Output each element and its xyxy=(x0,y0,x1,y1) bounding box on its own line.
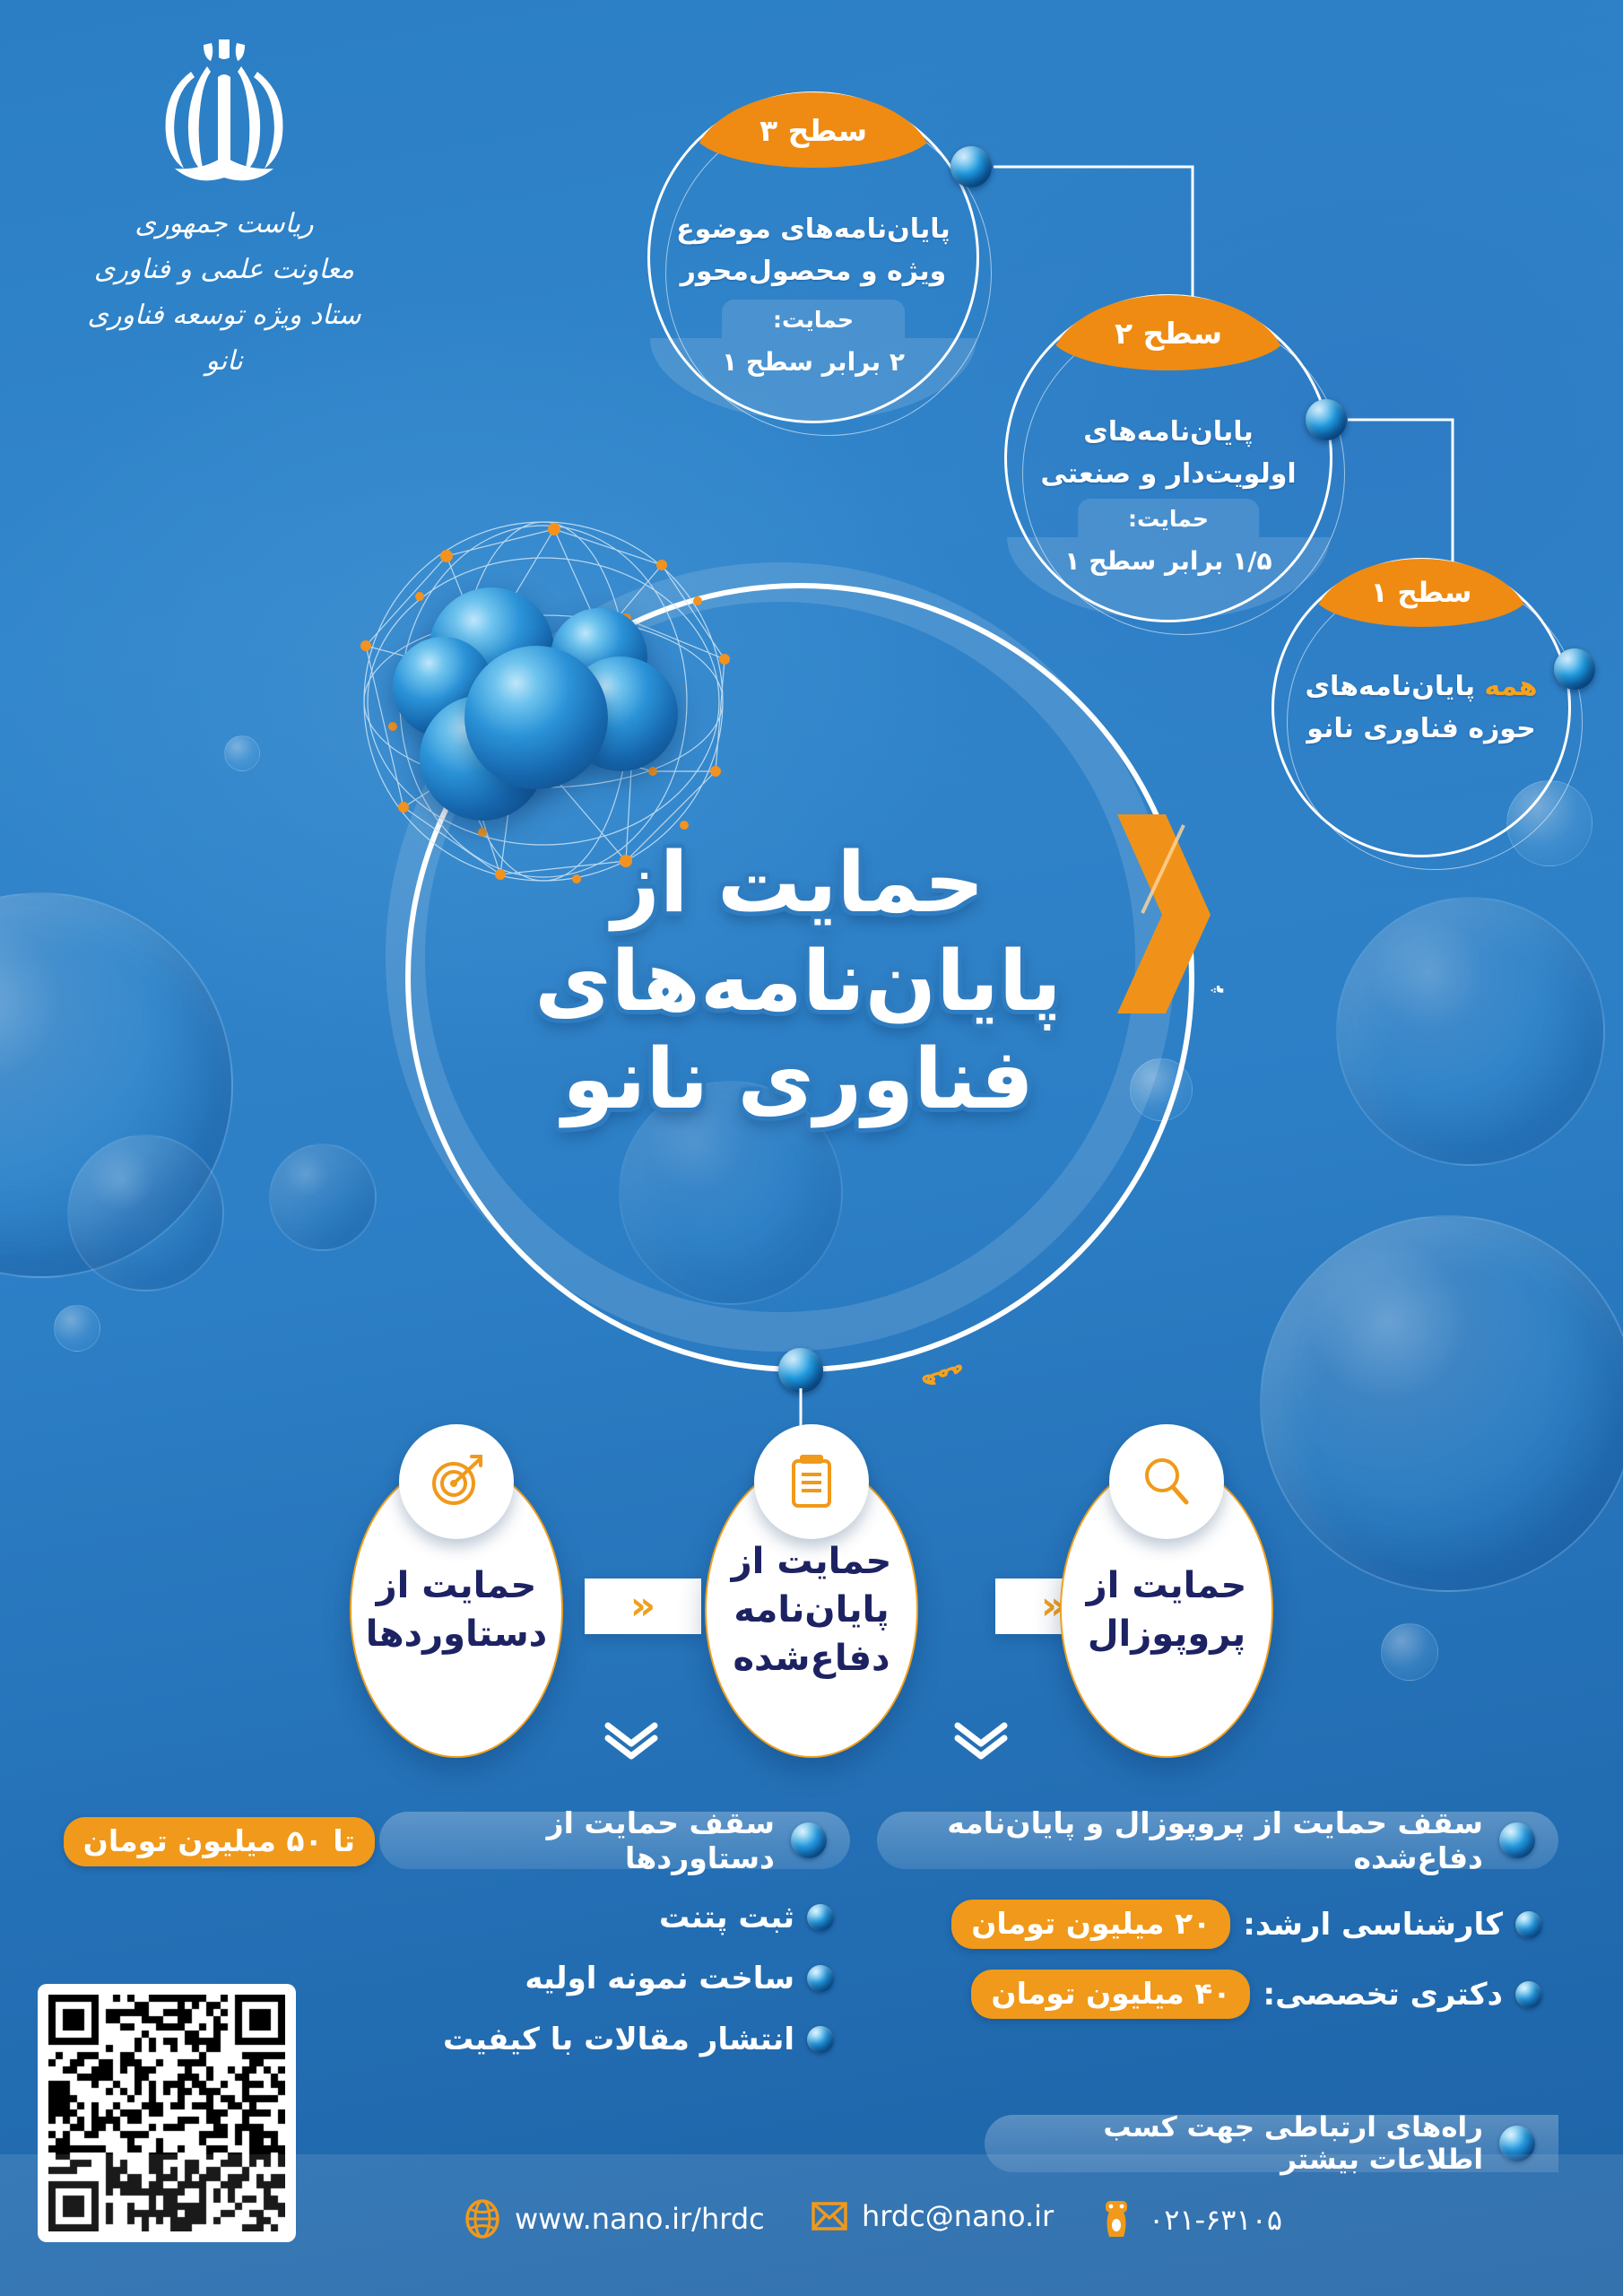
panel-left-item-text: انتشار مقالات با کیفیت xyxy=(443,2022,794,2057)
stage-proposal-label: حمایت از پروپوزال xyxy=(1072,1561,1262,1658)
marble-bullet-icon xyxy=(807,1965,834,1992)
stage-outcomes-badge xyxy=(399,1424,514,1539)
level-2-body: پایان‌نامه‌های اولویت‌دار و صنعتی xyxy=(1027,412,1311,495)
panel-right-row-value: ۲۰ میلیون تومان xyxy=(951,1900,1230,1949)
background-bubble xyxy=(269,1144,377,1251)
stage-defended-line-2: پایان‌نامه xyxy=(732,1586,892,1634)
down-arrow-icon xyxy=(952,1720,1010,1760)
stage-proposal-line-2: پروپوزال xyxy=(1087,1610,1247,1658)
stage-proposal-line-1: حمایت از xyxy=(1087,1561,1247,1610)
marble-bullet-icon xyxy=(1515,1911,1542,1938)
stage-outcomes-line-2: دستاوردها xyxy=(366,1610,547,1658)
title-line-2: پایان‌نامه‌های xyxy=(502,933,1094,1031)
level-3-body: پایان‌نامه‌های موضوع ویژه و محصول‌محور xyxy=(670,209,957,292)
panel-right-row: کارشناسی ارشد: ۲۰ میلیون تومان xyxy=(951,1900,1542,1949)
marble-bullet-icon xyxy=(791,1822,827,1858)
footer-contact-website[interactable]: www.nano.ir/hrdc xyxy=(464,2199,765,2239)
panel-left-item: ساخت نمونه اولیه xyxy=(525,1961,834,1996)
nano-cluster-illustration xyxy=(339,502,751,897)
panel-left-item: انتشار مقالات با کیفیت xyxy=(443,2022,834,2057)
panel-right-row-label: کارشناسی ارشد: xyxy=(1243,1907,1503,1943)
level-3-line-1: پایان‌نامه‌های موضوع xyxy=(670,209,957,251)
stage-defended-label: حمایت از پایان‌نامه دفاع‌شده xyxy=(717,1537,907,1683)
panel-left-header-text: سقف حمایت از دستاوردها xyxy=(403,1805,775,1875)
panel-right-row-label: دکتری تخصصی: xyxy=(1263,1977,1503,2013)
background-bubble xyxy=(1336,897,1605,1166)
panel-right-header: سقف حمایت از پروپوزال و پایان‌نامه دفاع‌… xyxy=(877,1812,1558,1869)
background-bubble xyxy=(54,1305,100,1352)
footer-phone-text: ۰۲۱-۶۳۱۰۵ xyxy=(1149,2203,1282,2237)
panel-left-item-text: ثبت پتنت xyxy=(659,1900,794,1935)
title-line-3: فناوری نانو xyxy=(502,1031,1094,1129)
marble-bullet-icon xyxy=(1499,1822,1535,1858)
clipboard-icon xyxy=(785,1452,838,1511)
ring-bottom-marble xyxy=(778,1348,823,1393)
envelope-icon xyxy=(811,2201,847,2231)
level-1-node-marble xyxy=(1554,648,1595,690)
footer-email-text: hrdc@nano.ir xyxy=(862,2199,1054,2233)
level-1-body: همه پایان‌نامه‌های حوزه فناوری نانو xyxy=(1292,666,1551,750)
level-1-line-2: حوزه فناوری نانو xyxy=(1292,709,1551,751)
globe-icon xyxy=(464,2199,500,2239)
footer-website-text: www.nano.ir/hrdc xyxy=(515,2202,765,2236)
footer-contact-email[interactable]: hrdc@nano.ir xyxy=(811,2199,1054,2233)
panel-left-item: ثبت پتنت xyxy=(659,1900,834,1935)
stage-defended-line-3: دفاع‌شده xyxy=(732,1634,892,1683)
level-2-card[interactable]: سطح ۲ پایان‌نامه‌های اولویت‌دار و صنعتی … xyxy=(1004,294,1332,622)
marble-bullet-icon xyxy=(1515,1981,1542,2008)
panel-left-cap-value: تا ۵۰ میلیون تومان xyxy=(64,1817,375,1866)
stage-defended-badge xyxy=(754,1424,869,1539)
stage-rail-left: « xyxy=(585,1578,701,1634)
ring-caption-highlight-text: همه xyxy=(919,1358,970,1397)
ring-arrow-marker xyxy=(1103,807,1228,1022)
background-bubble xyxy=(67,1135,224,1291)
nano-atom xyxy=(464,646,608,789)
stage-outcomes-label: حمایت از دستاوردها xyxy=(352,1561,561,1658)
level-2-line-1: پایان‌نامه‌های xyxy=(1027,412,1311,454)
stage-defended-line-1: حمایت از xyxy=(732,1537,892,1586)
magnifier-icon xyxy=(1138,1453,1195,1510)
stage-outcomes-line-1: حمایت از xyxy=(366,1561,547,1610)
panel-right-row-value: ۴۰ میلیون تومان xyxy=(971,1970,1250,2019)
marble-bullet-icon xyxy=(807,1904,834,1931)
level-1-card[interactable]: سطح ۱ همه پایان‌نامه‌های حوزه فناوری نان… xyxy=(1271,558,1571,857)
level-1-highlight: همه xyxy=(1484,671,1537,702)
marble-bullet-icon xyxy=(807,2026,834,2053)
poster-canvas: ریاست جمهوری معاونت علمی و فناوری ستاد و… xyxy=(0,0,1623,2296)
level-2-node-marble xyxy=(1306,399,1347,440)
level-2-support-label: حمایت: xyxy=(1078,499,1259,537)
stage-proposal-badge xyxy=(1109,1424,1224,1539)
background-bubble xyxy=(1260,1215,1623,1592)
panel-left-header: سقف حمایت از دستاوردها xyxy=(379,1812,850,1869)
panel-right-row: دکتری تخصصی: ۴۰ میلیون تومان xyxy=(971,1970,1542,2019)
background-bubble xyxy=(0,892,233,1278)
level-2-line-2: اولویت‌دار و صنعتی xyxy=(1027,454,1311,496)
ring-caption-highlight: همه xyxy=(919,1358,970,1397)
level-3-card[interactable]: سطح ۳ پایان‌نامه‌های موضوع ویژه و محصول‌… xyxy=(647,91,979,423)
level-3-node-marble xyxy=(950,146,992,187)
level-1-line-1: همه پایان‌نامه‌های xyxy=(1292,666,1551,709)
level-3-support-label: حمایت: xyxy=(722,300,905,338)
level-3-line-2: ویژه و محصول‌محور xyxy=(670,251,957,293)
panel-left-item-text: ساخت نمونه اولیه xyxy=(525,1961,794,1996)
down-arrow-icon xyxy=(603,1720,660,1760)
footer-contact-phone[interactable]: ۰۲۱-۶۳۱۰۵ xyxy=(1098,2199,1282,2240)
panel-right-header-text: سقف حمایت از پروپوزال و پایان‌نامه دفاع‌… xyxy=(900,1805,1483,1875)
level-1-line-1-rest: پایان‌نامه‌های xyxy=(1305,671,1484,702)
background-bubble xyxy=(1381,1623,1438,1681)
target-icon xyxy=(427,1453,486,1510)
phone-icon xyxy=(1098,2199,1134,2240)
chevron-left-icon: « xyxy=(630,1587,655,1626)
